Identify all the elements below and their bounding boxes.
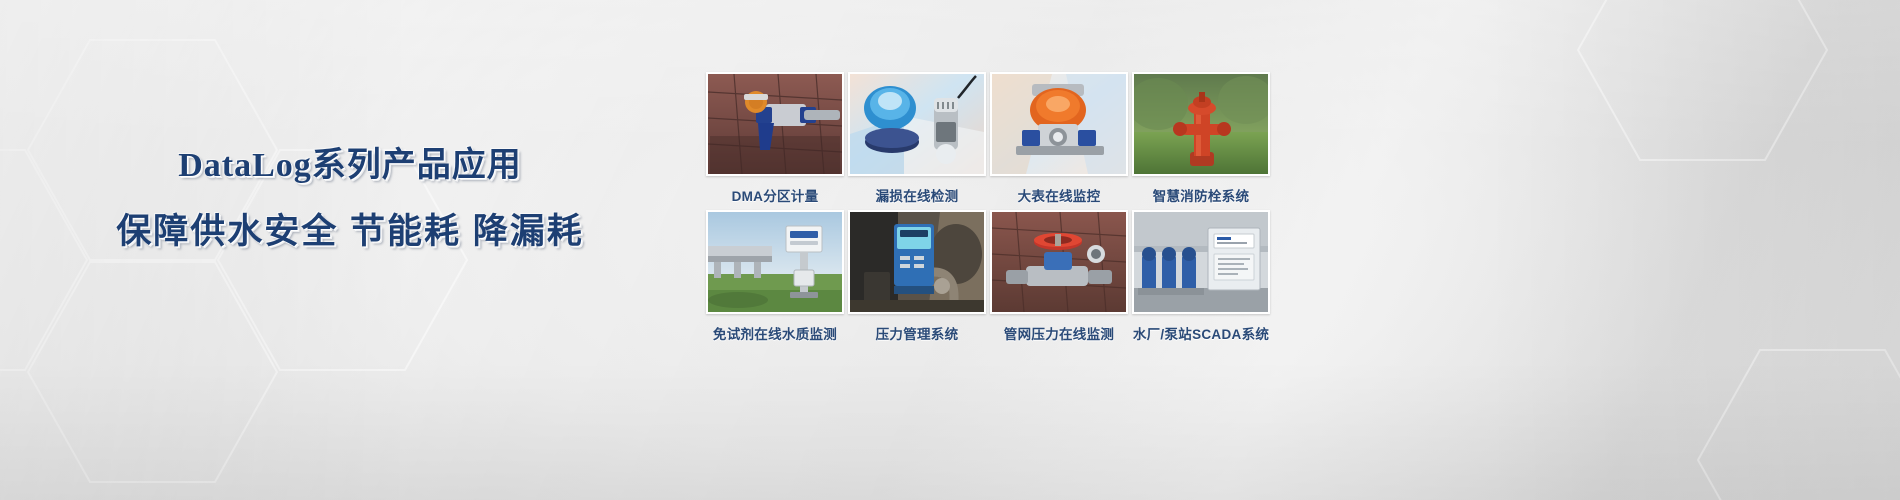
- reagent-free-water-quality-photo[interactable]: [706, 210, 844, 314]
- product-label: 漏损在线检测: [876, 185, 959, 205]
- pipe-network-pressure-photo[interactable]: [990, 210, 1128, 314]
- dma-flow-meter-photo[interactable]: [706, 72, 844, 176]
- product-cell-scada-system[interactable]: 水厂/泵站SCADA系统: [1131, 210, 1271, 343]
- smart-hydrant-photo[interactable]: [1132, 72, 1270, 176]
- product-label: 压力管理系统: [876, 323, 959, 343]
- headline-line-2: 保障供水安全 节能耗 降漏耗: [0, 214, 700, 251]
- product-label: 智慧消防栓系统: [1153, 185, 1250, 205]
- product-cell-dma-metering[interactable]: DMA分区计量: [705, 72, 845, 205]
- pressure-management-photo[interactable]: [848, 210, 986, 314]
- product-label: 大表在线监控: [1018, 185, 1101, 205]
- product-application-banner: DataLog系列产品应用 保障供水安全 节能耗 降漏耗: [0, 0, 1900, 500]
- product-cell-pipe-pressure-monitoring[interactable]: 管网压力在线监测: [989, 210, 1129, 343]
- product-cell-large-meter-monitoring[interactable]: 大表在线监控: [989, 72, 1129, 205]
- product-label: 免试剂在线水质监测: [713, 323, 837, 343]
- product-label: 水厂/泵站SCADA系统: [1133, 323, 1269, 343]
- product-label: 管网压力在线监测: [1004, 323, 1114, 343]
- product-cell-leak-detection[interactable]: 漏损在线检测: [847, 72, 987, 205]
- headline-block: DataLog系列产品应用 保障供水安全 节能耗 降漏耗: [0, 148, 700, 250]
- product-cell-smart-hydrant[interactable]: 智慧消防栓系统: [1131, 72, 1271, 205]
- leak-detection-logger-photo[interactable]: [848, 72, 986, 176]
- large-meter-monitor-photo[interactable]: [990, 72, 1128, 176]
- product-cell-water-quality[interactable]: 免试剂在线水质监测: [705, 210, 845, 343]
- scada-system-photo[interactable]: [1132, 210, 1270, 314]
- product-cell-pressure-management[interactable]: 压力管理系统: [847, 210, 987, 343]
- product-thumbnail-grid: DMA分区计量: [705, 72, 1271, 343]
- headline-line-1: DataLog系列产品应用: [0, 148, 700, 184]
- product-label: DMA分区计量: [732, 185, 819, 205]
